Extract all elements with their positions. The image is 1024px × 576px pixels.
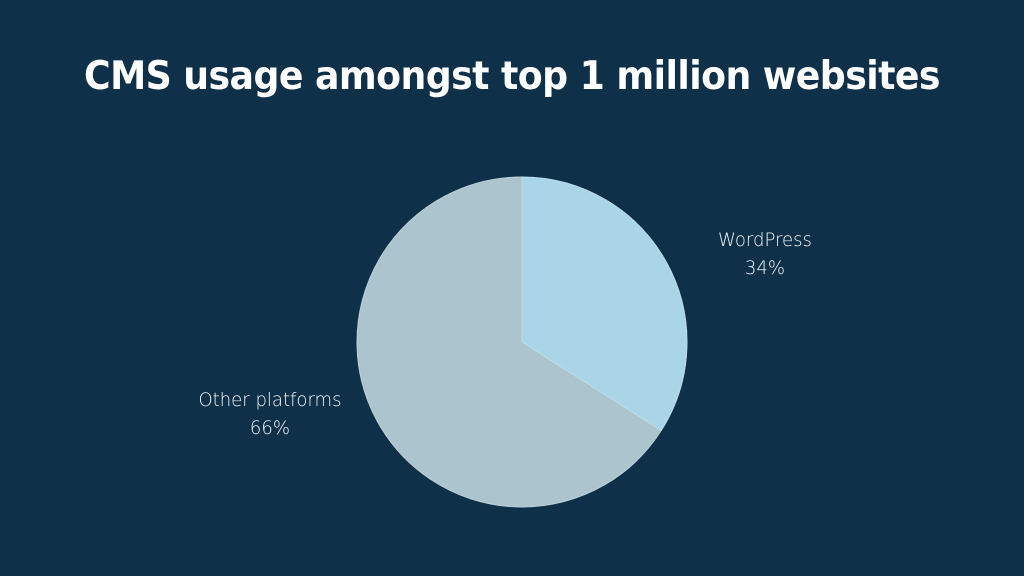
pie-label-wordpress-name: WordPress xyxy=(651,226,879,254)
pie-label-wordpress: WordPress 34% xyxy=(651,226,879,282)
pie-label-other-platforms-value: 66% xyxy=(156,414,384,442)
pie-label-other-platforms: Other platforms 66% xyxy=(156,386,384,442)
pie-label-wordpress-value: 34% xyxy=(651,254,879,282)
pie-label-other-platforms-name: Other platforms xyxy=(156,386,384,414)
slide-canvas: CMS usage amongst top 1 million websites… xyxy=(0,0,1024,576)
pie-chart xyxy=(0,0,1024,576)
